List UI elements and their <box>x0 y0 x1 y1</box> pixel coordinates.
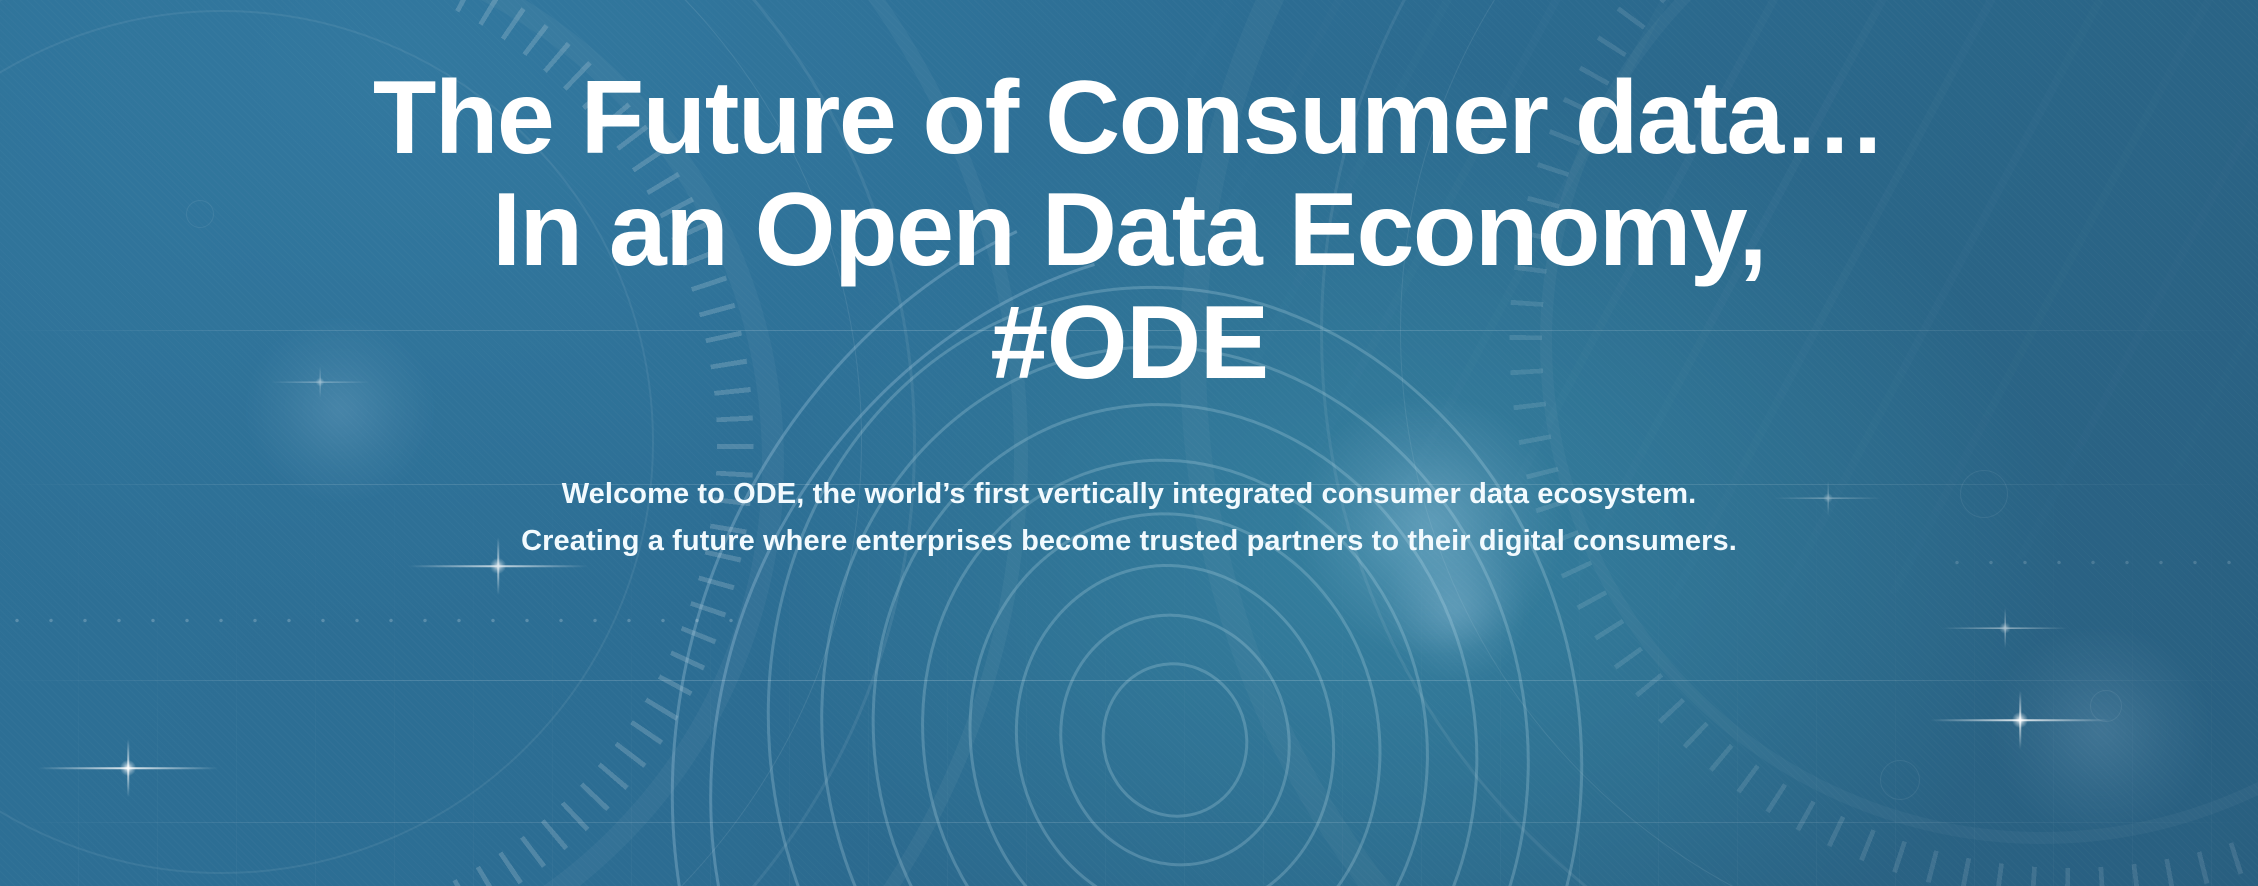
headline-line-1: The Future of Consumer data… <box>0 62 2258 174</box>
hero-banner: The Future of Consumer data… In an Open … <box>0 0 2258 886</box>
hero-content: The Future of Consumer data… In an Open … <box>0 0 2258 886</box>
headline-line-2: In an Open Data Economy, <box>0 174 2258 286</box>
headline-line-3: #ODE <box>0 287 2258 399</box>
hero-subcopy: Welcome to ODE, the world’s first vertic… <box>514 399 1744 565</box>
page-title: The Future of Consumer data… In an Open … <box>0 62 2258 399</box>
